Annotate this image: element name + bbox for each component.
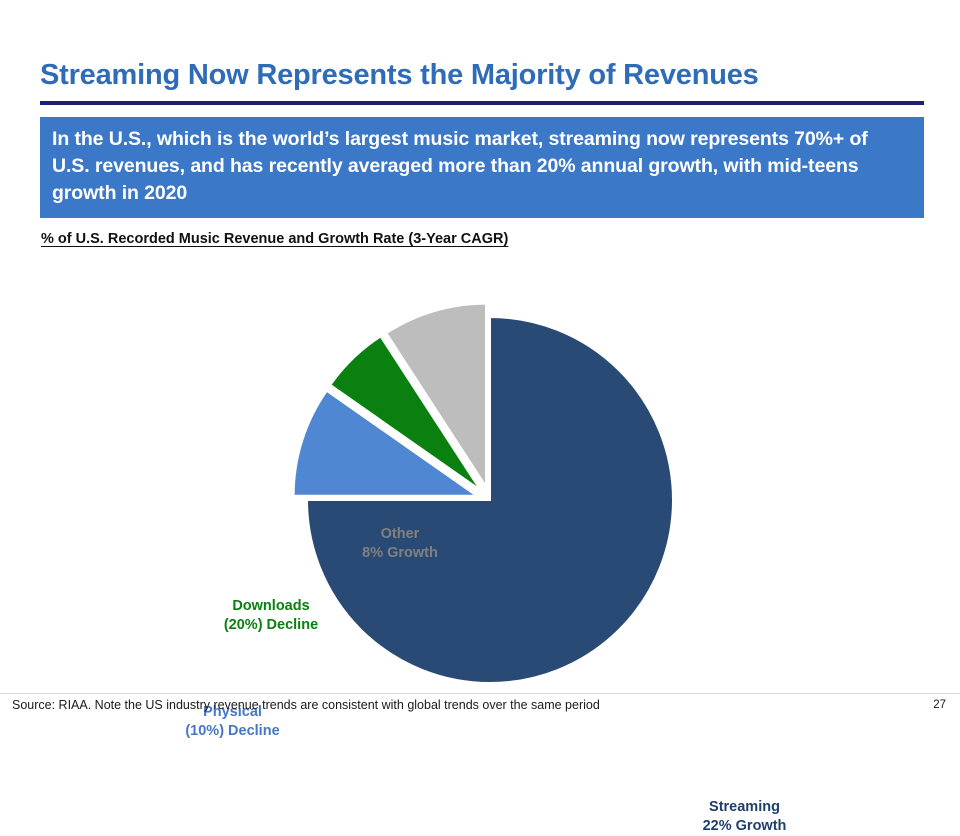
title-block: Streaming Now Represents the Majority of… — [40, 60, 924, 105]
pie-label-physical-growth: (10%) Decline — [175, 722, 290, 741]
callout-text: In the U.S., which is the world’s larges… — [52, 126, 910, 207]
pie-label-other-name: Other — [381, 526, 420, 542]
pie-label-other-growth: 8% Growth — [352, 544, 448, 563]
page-title: Streaming Now Represents the Majority of… — [40, 60, 924, 92]
pie-label-streaming-growth: 22% Growth — [693, 817, 796, 836]
title-divider — [40, 101, 924, 105]
pie-label-streaming-name: Streaming — [709, 799, 780, 815]
footer-divider — [0, 693, 960, 694]
pie-chart: Other 8% Growth Downloads (20%) Decline … — [0, 255, 960, 695]
chart-subtitle: % of U.S. Recorded Music Revenue and Gro… — [41, 231, 508, 247]
pie-label-downloads-growth: (20%) Decline — [213, 616, 329, 635]
pie-label-other: Other 8% Growth — [352, 525, 448, 563]
callout-box: In the U.S., which is the world’s larges… — [40, 117, 924, 218]
pie-label-downloads: Downloads (20%) Decline — [213, 597, 329, 635]
footer-source-note: Source: RIAA. Note the US industry reven… — [12, 698, 600, 712]
slide-canvas: Streaming Now Represents the Majority of… — [0, 0, 960, 720]
pie-chart-svg — [0, 255, 960, 695]
page-number: 27 — [926, 699, 946, 711]
pie-label-downloads-name: Downloads — [232, 598, 309, 614]
pie-label-streaming: Streaming 22% Growth — [693, 798, 796, 836]
